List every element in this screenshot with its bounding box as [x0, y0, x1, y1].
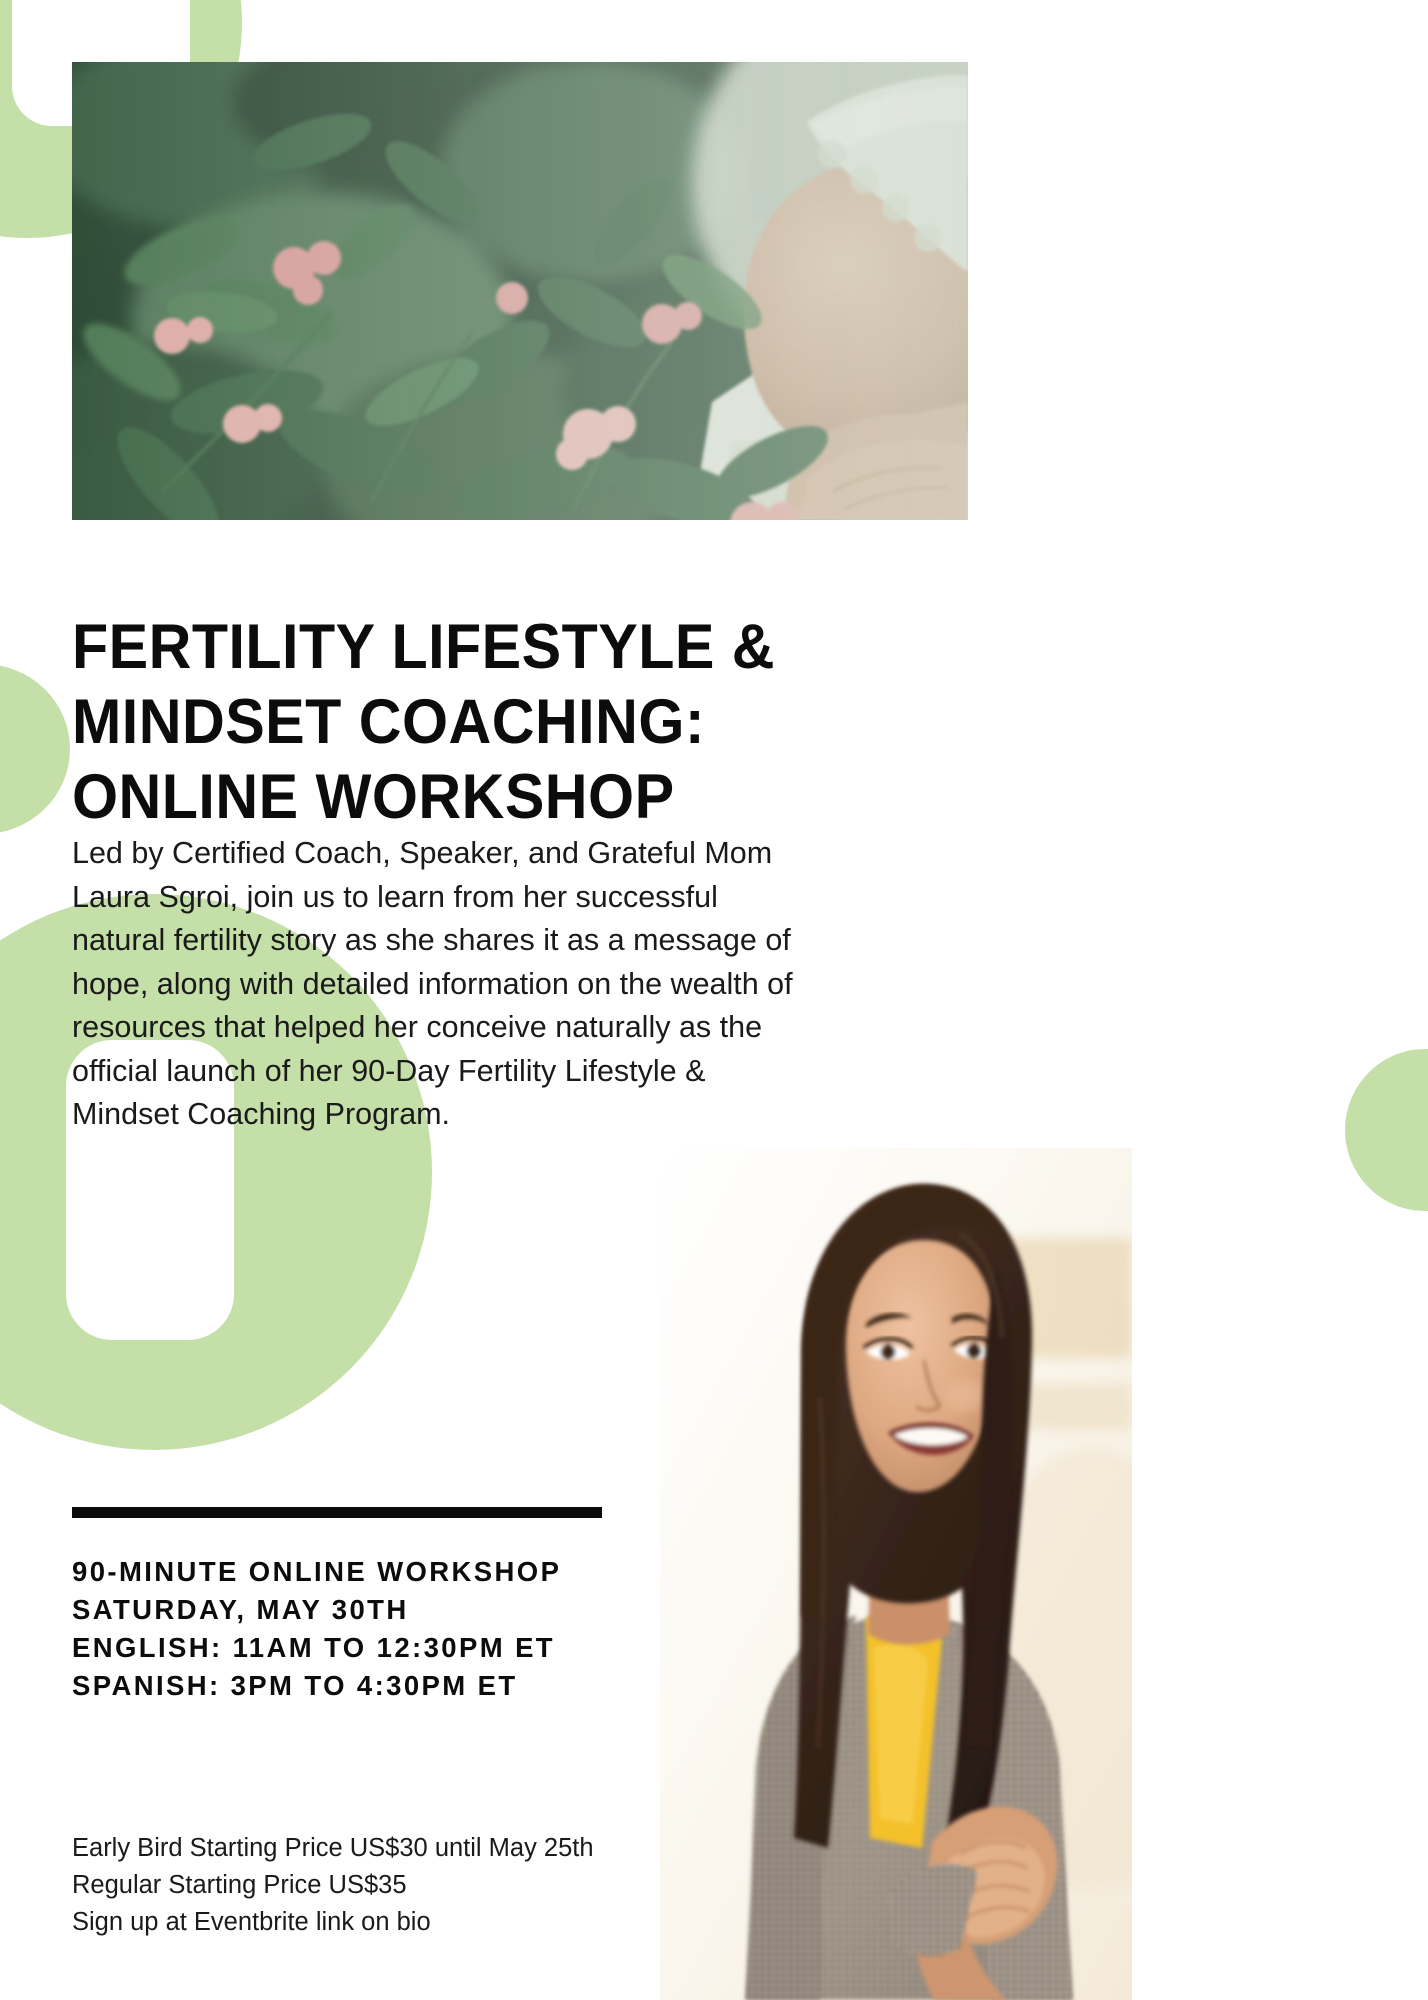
pricing-info: Early Bird Starting Price US$30 until Ma… — [72, 1830, 672, 1941]
headline-line-1: FERTILITY LIFESTYLE & — [72, 610, 899, 685]
page-title: FERTILITY LIFESTYLE & MINDSET COACHING: … — [72, 610, 899, 835]
headline-line-3: ONLINE WORKSHOP — [72, 760, 899, 835]
signup-instruction: Sign up at Eventbrite link on bio — [72, 1904, 672, 1941]
workshop-details: 90-MINUTE ONLINE WORKSHOP SATURDAY, MAY … — [72, 1553, 692, 1705]
headline-line-2: MINDSET COACHING: — [72, 685, 899, 760]
description-paragraph: Led by Certified Coach, Speaker, and Gra… — [72, 832, 812, 1137]
decorative-circle-left-small — [0, 664, 70, 834]
horizontal-divider — [72, 1507, 602, 1518]
detail-date: SATURDAY, MAY 30TH — [72, 1591, 692, 1629]
detail-spanish-time: SPANISH: 3PM TO 4:30PM ET — [72, 1667, 692, 1705]
detail-english-time: ENGLISH: 11AM TO 12:30PM ET — [72, 1629, 692, 1667]
price-regular: Regular Starting Price US$35 — [72, 1867, 672, 1904]
speaker-portrait-image — [660, 1148, 1132, 2000]
detail-duration: 90-MINUTE ONLINE WORKSHOP — [72, 1553, 692, 1591]
decorative-circle-right-edge — [1345, 1049, 1428, 1211]
price-early-bird: Early Bird Starting Price US$30 until Ma… — [72, 1830, 672, 1867]
description-text: Led by Certified Coach, Speaker, and Gra… — [72, 832, 812, 1137]
hero-image-pregnant-woman-garden — [72, 62, 968, 520]
poster-canvas: FERTILITY LIFESTYLE & MINDSET COACHING: … — [0, 0, 1428, 2000]
